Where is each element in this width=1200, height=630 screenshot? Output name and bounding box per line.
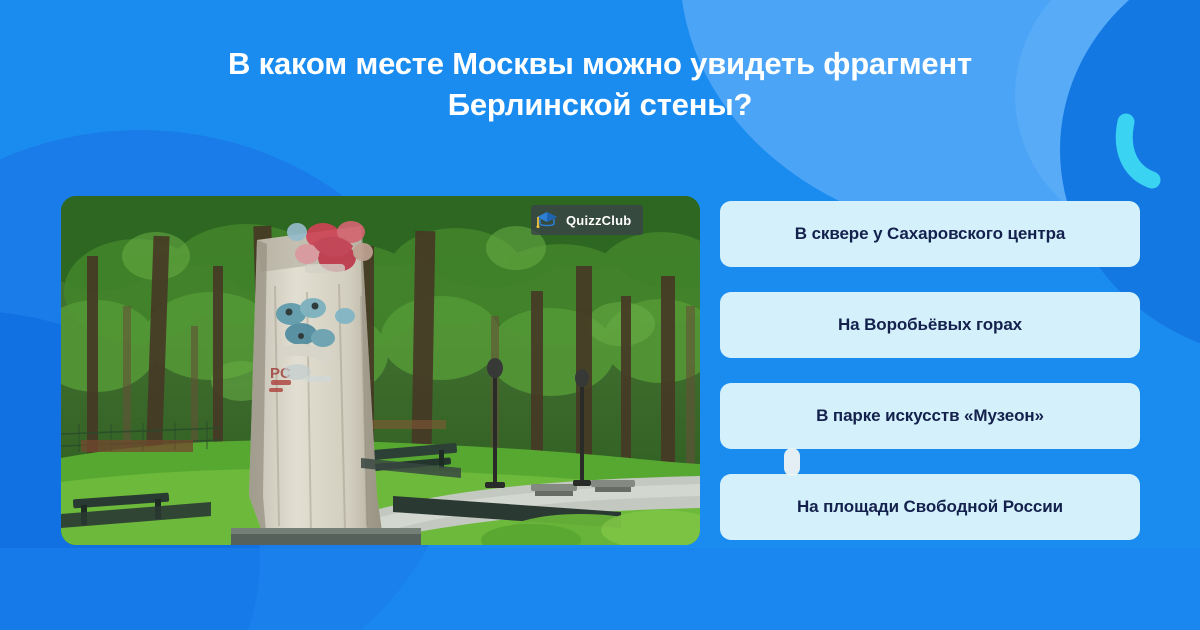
photo-illustration: PC (61, 196, 700, 545)
watermark-label: QuizzClub (566, 213, 631, 228)
question-line-2: Берлинской стены? (0, 85, 1200, 126)
question-line-1: В каком месте Москвы можно увидеть фрагм… (0, 44, 1200, 85)
cursor-indicator (784, 448, 800, 476)
answer-option-2-label: На Воробьёвых горах (838, 315, 1022, 335)
answer-option-1-label: В сквере у Сахаровского центра (795, 224, 1065, 244)
answer-option-1[interactable]: В сквере у Сахаровского центра (720, 201, 1140, 267)
answer-option-4[interactable]: На площади Свободной России (720, 474, 1140, 540)
quizzclub-watermark: QuizzClub (531, 205, 643, 235)
answer-option-2[interactable]: На Воробьёвых горах (720, 292, 1140, 358)
graduation-cap-icon (535, 208, 559, 232)
band-bottom (0, 548, 1200, 630)
question-title: В каком месте Москвы можно увидеть фрагм… (0, 44, 1200, 126)
answer-option-4-label: На площади Свободной России (797, 497, 1063, 517)
answer-option-3[interactable]: В парке искусств «Музеон» (720, 383, 1140, 449)
answer-option-3-label: В парке искусств «Музеон» (816, 406, 1044, 426)
answer-options-list: В сквере у Сахаровского центра На Воробь… (720, 201, 1140, 540)
question-image: PC (61, 196, 700, 545)
